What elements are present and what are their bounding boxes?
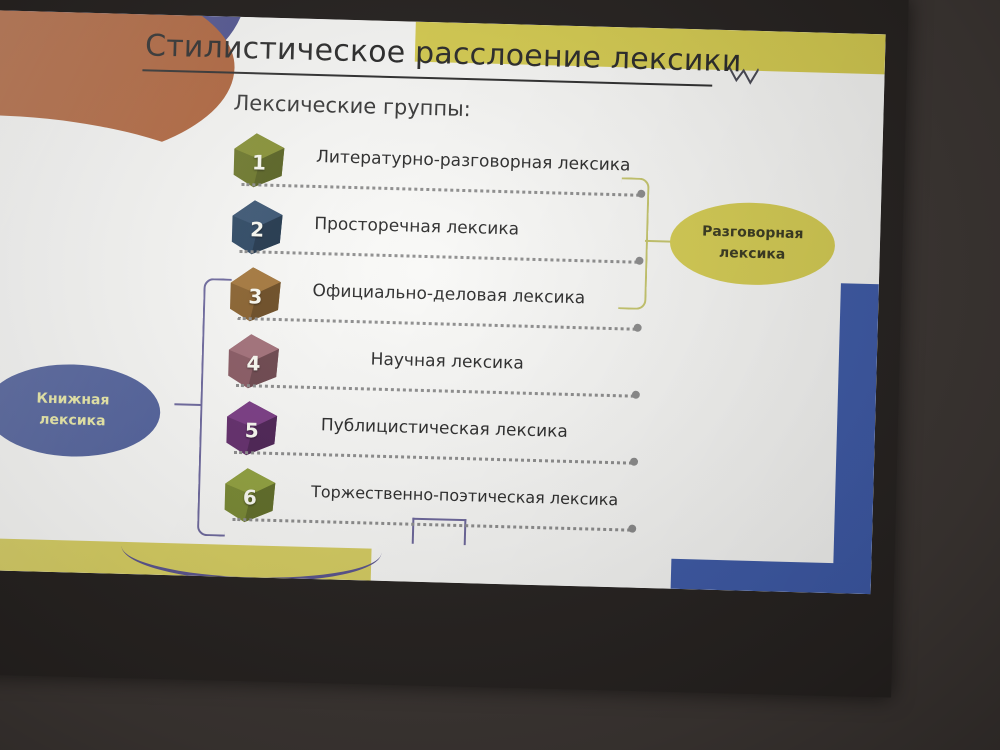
slide-subtitle: Лексические группы: <box>233 91 471 121</box>
cube-number: 6 <box>220 466 280 526</box>
cube-number: 4 <box>224 332 284 392</box>
list-item-label: Торжественно-поэтическая лексика <box>311 482 619 509</box>
cube-number: 1 <box>229 131 289 191</box>
cube-icon: 4 <box>224 332 284 392</box>
list-item-label: Литературно-разговорная лексика <box>316 147 631 175</box>
projected-slide: Стилистическое расслоение лексики Лексич… <box>0 10 886 594</box>
lexical-groups-list: 1 Литературно-разговорная лексика 2 <box>220 129 701 544</box>
leader-dots <box>232 518 630 535</box>
list-item: 2 Просторечная лексика <box>227 196 699 276</box>
decor-blue-band-bottom <box>671 559 872 594</box>
callout-bookish-line2: лексика <box>39 410 106 433</box>
leader-dot-end <box>632 391 640 399</box>
callout-conversational-line2: лексика <box>719 243 786 266</box>
callout-bookish-line1: Книжная <box>36 389 110 412</box>
leader-dot-end <box>634 324 642 332</box>
list-item-label: Официально-деловая лексика <box>312 281 585 308</box>
cube-number: 5 <box>222 399 282 459</box>
list-item-label: Научная лексика <box>370 350 524 374</box>
cube-icon: 6 <box>220 466 280 526</box>
list-item: 4 Научная лексика <box>224 330 696 410</box>
leader-dot-end <box>628 525 636 533</box>
cube-icon: 1 <box>229 131 289 191</box>
slide-canvas: Стилистическое расслоение лексики Лексич… <box>0 10 886 594</box>
cube-icon: 5 <box>222 399 282 459</box>
leader-dot-end <box>635 257 643 265</box>
leader-dot-end <box>630 458 638 466</box>
monitor: Стилистическое расслоение лексики Лексич… <box>0 0 1000 750</box>
list-item-label: Публицистическая лексика <box>321 415 568 442</box>
list-item: 5 Публицистическая лексика <box>222 397 694 477</box>
brace-bookish-stem <box>174 403 201 406</box>
cube-icon: 2 <box>227 198 287 258</box>
leader-dot-end <box>637 190 645 198</box>
list-item-label: Просторечная лексика <box>314 214 519 240</box>
cube-number: 3 <box>226 265 286 325</box>
decor-blue-blob-topleft <box>0 10 249 127</box>
callout-conversational-line1: Разговорная <box>702 221 804 245</box>
callout-bookish: Книжная лексика <box>0 362 161 459</box>
list-item: 3 Официально-деловая лексика <box>225 263 697 343</box>
cube-icon: 3 <box>226 265 286 325</box>
list-item: 1 Литературно-разговорная лексика <box>229 129 701 209</box>
list-item: 6 Торжественно-поэтическая лексика <box>220 464 692 544</box>
cube-number: 2 <box>227 198 287 258</box>
